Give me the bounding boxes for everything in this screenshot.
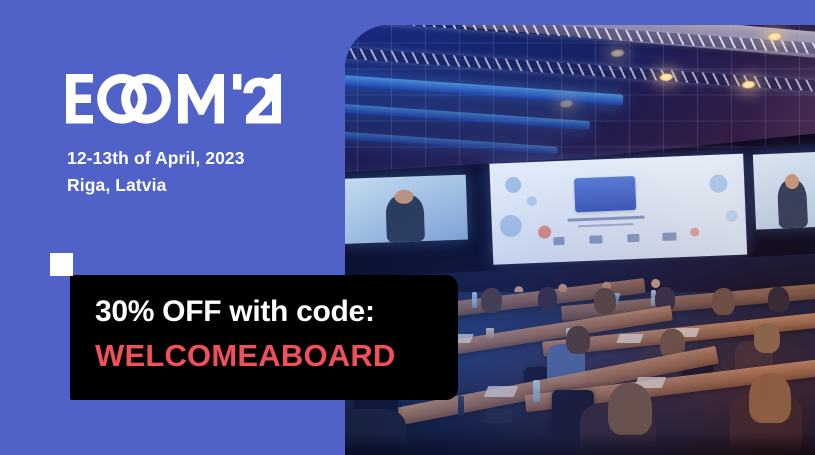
accent-square [50,253,73,276]
audience-head [754,323,780,353]
promo-banner: 12-13th of April, 2023 Riga, Latvia 30% … [0,0,815,455]
slide-ecom-logo [574,176,636,213]
slide-caption-line [568,216,644,222]
promo-code: WELCOMEABOARD [95,338,396,374]
audience-head [594,288,616,314]
slide-caption-line [578,223,634,227]
sponsor-logo [553,237,564,245]
side-projection-screen [345,175,467,244]
promo-headline: 30% OFF with code: [95,295,375,329]
side-projection-screen-right [753,151,815,229]
water-bottle [533,380,540,402]
event-location: Riga, Latvia [67,172,245,199]
slide-bubble [505,176,522,193]
promo-code-box: 30% OFF with code: WELCOMEABOARD [70,275,458,400]
slide-bubble [538,226,552,240]
water-bottle [458,396,464,416]
audience-head [768,287,789,312]
sponsor-logo [589,236,602,245]
audience-head [749,373,791,423]
sponsor-logo [627,234,639,242]
event-details: 12-13th of April, 2023 Riga, Latvia [67,145,245,198]
slide-bubble [526,196,536,206]
audience-head [608,383,652,435]
ecom-21-logo-mark [66,72,281,128]
slide-bubble [499,215,522,238]
water-bottle [472,292,477,308]
slide-bubble [690,228,699,237]
slide-bubble [725,210,737,222]
slide-bubble [709,174,728,193]
audience-head [481,288,502,313]
sponsor-logo [663,233,677,242]
foreground-shadow [345,432,815,455]
event-dates: 12-13th of April, 2023 [67,145,245,172]
paper-sheet [484,386,518,397]
main-projection-screen [489,153,747,264]
audience-head [538,287,557,310]
ecom-21-logo [66,72,281,128]
audience-head [566,326,590,354]
laptop [485,409,514,423]
paper-sheet [616,334,644,343]
coffee-cup [486,328,494,339]
audience-head [712,288,735,315]
